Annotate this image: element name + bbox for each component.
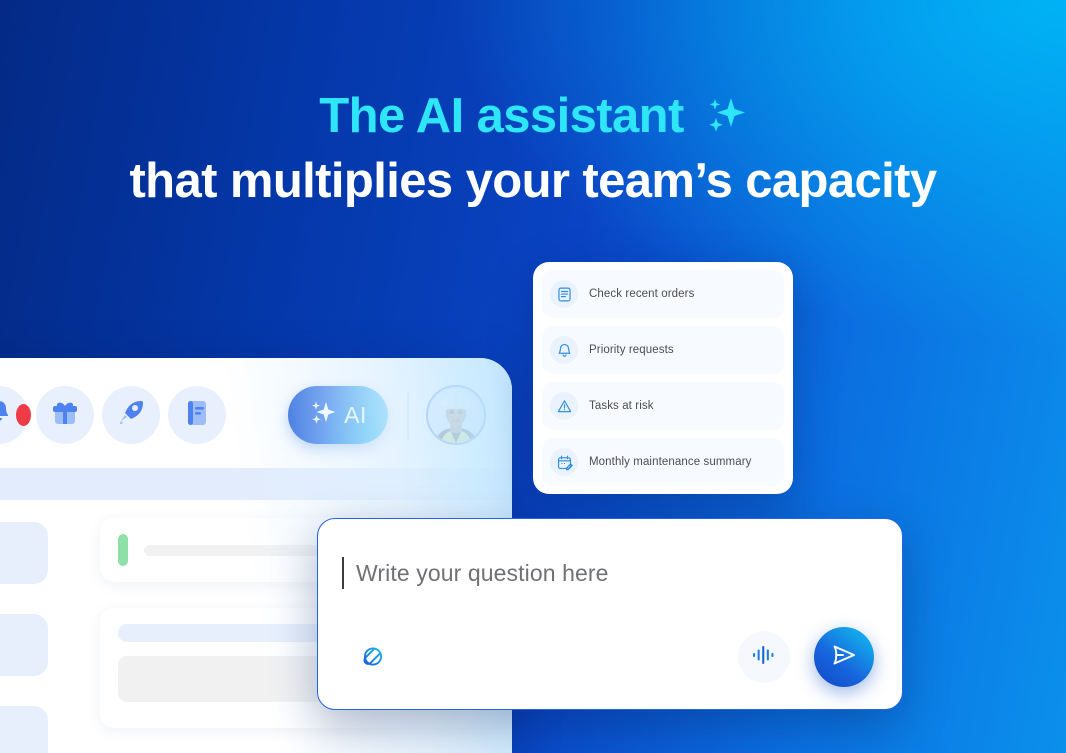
- notification-badge: [16, 404, 31, 426]
- toolbar-divider: [407, 393, 409, 439]
- ai-button-label: AI: [344, 402, 367, 429]
- attach-button[interactable]: [356, 643, 390, 677]
- book-icon: [184, 399, 210, 432]
- headline-line-1: The AI assistant: [0, 92, 1066, 145]
- suggestion-label: Tasks at risk: [589, 400, 654, 412]
- headline-line-2: that multiplies your team’s capacity: [0, 157, 1066, 206]
- ai-assistant-button[interactable]: AI: [288, 386, 388, 444]
- mockup-subheader-strip: [0, 468, 512, 500]
- suggestion-item-monthly-maintenance-summary[interactable]: Monthly maintenance summary: [542, 438, 784, 486]
- hero-banner: The AI assistant that multiplies your te…: [0, 0, 1066, 753]
- sparkle-icon: [705, 96, 747, 145]
- suggestion-label: Check recent orders: [589, 288, 694, 300]
- warning-icon: [550, 392, 578, 420]
- composer-input-row[interactable]: Write your question here: [342, 557, 609, 589]
- gift-icon: [51, 400, 79, 431]
- paperclip-icon: [358, 643, 388, 678]
- skeleton-accent-bar: [118, 534, 128, 566]
- suggestion-label: Monthly maintenance summary: [589, 456, 752, 468]
- skeleton-sidebar-block: [0, 614, 48, 676]
- send-button[interactable]: [814, 627, 874, 687]
- suggestion-item-check-recent-orders[interactable]: Check recent orders: [542, 270, 784, 318]
- suggestion-label: Priority requests: [589, 344, 674, 356]
- text-caret: [342, 557, 344, 589]
- suggestion-item-priority-requests[interactable]: Priority requests: [542, 326, 784, 374]
- suggestion-item-tasks-at-risk[interactable]: Tasks at risk: [542, 382, 784, 430]
- composer-placeholder: Write your question here: [356, 560, 609, 587]
- mockup-toolbar: AI: [0, 358, 512, 468]
- voice-input-button[interactable]: [738, 631, 790, 683]
- bell-icon: [0, 399, 12, 432]
- calendar-edit-icon: [550, 448, 578, 476]
- toolbar-item-book[interactable]: [168, 386, 226, 444]
- sparkle-icon: [309, 399, 337, 432]
- suggestions-card: Check recent orders Priority requests Ta…: [533, 262, 793, 494]
- document-list-icon: [550, 280, 578, 308]
- skeleton-sidebar-block: [0, 522, 48, 584]
- bell-icon: [550, 336, 578, 364]
- toolbar-item-gift[interactable]: [36, 386, 94, 444]
- headline-line-1-text: The AI assistant: [319, 89, 683, 143]
- toolbar-item-rocket[interactable]: [102, 386, 160, 444]
- skeleton-sidebar-block: [0, 706, 48, 753]
- chat-composer[interactable]: Write your question here: [317, 518, 903, 710]
- send-icon: [829, 641, 859, 674]
- rocket-icon: [117, 399, 145, 432]
- avatar[interactable]: [426, 385, 486, 445]
- page-title: The AI assistant that multiplies your te…: [0, 92, 1066, 206]
- waveform-icon: [751, 644, 777, 671]
